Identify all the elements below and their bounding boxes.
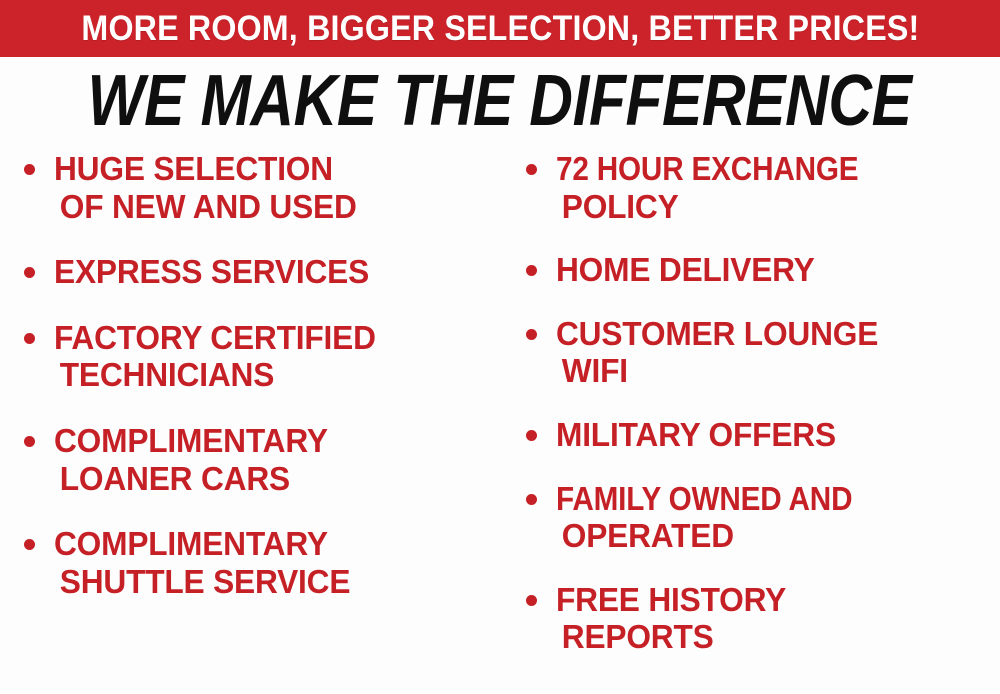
list-item: 72 HOUR EXCHANGE POLICY <box>520 150 1000 225</box>
feature-line: LOANER CARS <box>54 460 490 498</box>
bullet-dot-icon <box>526 430 537 441</box>
feature-line: EXPRESS SERVICES <box>54 253 490 291</box>
bullet-dot-icon <box>24 539 35 550</box>
feature-line: SHUTTLE SERVICE <box>54 563 490 601</box>
feature-line: WIFI <box>556 352 982 390</box>
feature-line: TECHNICIANS <box>54 356 490 394</box>
bullet-dot-icon <box>526 164 537 175</box>
feature-line: REPORTS <box>556 618 982 656</box>
list-item: HOME DELIVERY <box>520 251 1000 289</box>
right-feature-list: 72 HOUR EXCHANGE POLICY HOME DELIVERY CU… <box>520 150 1000 656</box>
top-banner: MORE ROOM, BIGGER SELECTION, BETTER PRIC… <box>0 0 1000 57</box>
feature-line: FREE HISTORY <box>556 581 982 619</box>
list-item: HUGE SELECTION OF NEW AND USED <box>18 150 508 225</box>
list-item: COMPLIMENTARY LOANER CARS <box>18 422 508 497</box>
left-feature-list: HUGE SELECTION OF NEW AND USED EXPRESS S… <box>18 150 508 600</box>
feature-line: POLICY <box>556 188 982 226</box>
feature-line: CUSTOMER LOUNGE <box>556 315 982 353</box>
bullet-dot-icon <box>24 436 35 447</box>
feature-line: COMPLIMENTARY <box>54 422 490 460</box>
feature-line: FAMILY OWNED AND <box>556 480 956 518</box>
feature-line: MILITARY OFFERS <box>556 416 982 454</box>
list-item: FAMILY OWNED AND OPERATED <box>520 480 1000 555</box>
feature-line: OPERATED <box>556 517 982 555</box>
promo-poster: MORE ROOM, BIGGER SELECTION, BETTER PRIC… <box>0 0 1000 694</box>
bullet-dot-icon <box>526 329 537 340</box>
bullet-dot-icon <box>24 267 35 278</box>
features-columns: HUGE SELECTION OF NEW AND USED EXPRESS S… <box>0 150 1000 694</box>
right-feature-column: 72 HOUR EXCHANGE POLICY HOME DELIVERY CU… <box>508 150 1000 682</box>
bullet-dot-icon <box>526 494 537 505</box>
list-item: MILITARY OFFERS <box>520 416 1000 454</box>
feature-line: 72 HOUR EXCHANGE <box>556 150 956 188</box>
feature-line: HOME DELIVERY <box>556 251 982 289</box>
top-banner-text: MORE ROOM, BIGGER SELECTION, BETTER PRIC… <box>81 11 919 46</box>
headline-container: WE MAKE THE DIFFERENCE <box>0 60 1000 142</box>
bullet-dot-icon <box>526 595 537 606</box>
page-title: WE MAKE THE DIFFERENCE <box>88 65 912 137</box>
list-item: EXPRESS SERVICES <box>18 253 508 291</box>
feature-line: FACTORY CERTIFIED <box>54 319 490 357</box>
feature-line: HUGE SELECTION <box>54 150 490 188</box>
feature-line: OF NEW AND USED <box>54 188 490 226</box>
feature-line: COMPLIMENTARY <box>54 525 490 563</box>
bullet-dot-icon <box>24 164 35 175</box>
list-item: CUSTOMER LOUNGE WIFI <box>520 315 1000 390</box>
list-item: FREE HISTORY REPORTS <box>520 581 1000 656</box>
list-item: COMPLIMENTARY SHUTTLE SERVICE <box>18 525 508 600</box>
bullet-dot-icon <box>526 265 537 276</box>
list-item: FACTORY CERTIFIED TECHNICIANS <box>18 319 508 394</box>
bullet-dot-icon <box>24 333 35 344</box>
left-feature-column: HUGE SELECTION OF NEW AND USED EXPRESS S… <box>0 150 508 628</box>
